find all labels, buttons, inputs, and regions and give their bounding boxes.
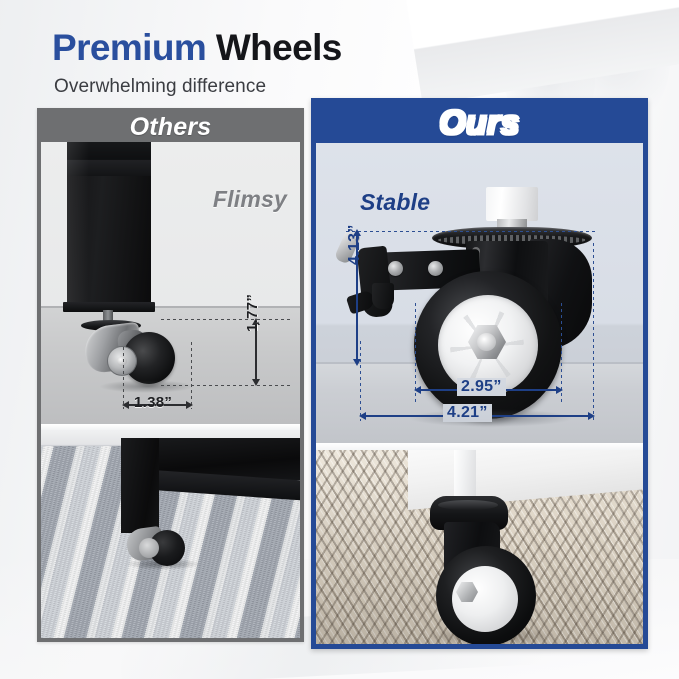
ours-panel-header: Ours — [316, 103, 643, 143]
ours-panel: Ours — [311, 98, 648, 649]
caster-bearing-ring-lower — [438, 500, 498, 510]
dim-width-arrow-right — [186, 401, 193, 409]
others-panel-body: Flimsy 1.77” 1.38” — [41, 142, 300, 638]
ours-top-photo: Stable 4.13” 2.95” 4 — [316, 143, 643, 443]
dim-height-label: 4.13” — [346, 224, 364, 265]
caster-wheel-hub-lower — [139, 538, 159, 558]
dim-width-arrow-left — [122, 401, 129, 409]
ours-photo-divider — [316, 443, 643, 450]
dim-guide-total-right — [593, 243, 594, 421]
dim-wheel-width-arrow-left — [414, 386, 421, 394]
dim-total-width-arrow-left — [359, 412, 366, 420]
page-title-rest: Wheels — [206, 27, 342, 68]
dim-wheel-width-label: 2.95” — [457, 378, 506, 396]
ours-quality-label: Stable — [360, 189, 430, 216]
infographic-canvas: Premium Wheels Overwhelming difference O… — [0, 0, 679, 679]
others-panel-header: Others — [41, 112, 300, 142]
dim-height-arrow-down — [252, 379, 260, 386]
dim-guide-total-left — [360, 341, 361, 421]
brake-hook — [372, 283, 394, 309]
wheel-axle-center — [477, 333, 496, 351]
dim-height-label: 1.77” — [244, 294, 261, 332]
ours-panel-body: Stable 4.13” 2.95” 4 — [316, 143, 643, 644]
caster-mounting-post-lower — [454, 450, 476, 502]
caster-mounting-post — [486, 187, 538, 221]
caster-wheel-bolt — [117, 356, 127, 366]
dim-guide-top — [346, 231, 596, 232]
dim-guide-left — [123, 347, 124, 409]
caster-ground-shadow — [99, 380, 195, 393]
table-leg-highlight — [67, 142, 89, 310]
dim-width-label: 1.38” — [134, 394, 172, 411]
bracket-rivet — [388, 261, 403, 276]
page-title-accent: Premium — [52, 27, 206, 68]
ours-bottom-photo — [316, 450, 643, 644]
dim-wheel-width-arrow-right — [556, 386, 563, 394]
dim-total-width-label: 4.21” — [443, 404, 492, 422]
ours-panel-header-text: Ours — [439, 104, 520, 143]
dim-guide-bottom — [161, 385, 291, 386]
others-bottom-photo — [41, 430, 300, 638]
others-top-photo: Flimsy 1.77” 1.38” — [41, 142, 300, 424]
table-leg-lower — [121, 438, 159, 533]
dim-total-width-arrow-right — [588, 412, 595, 420]
bracket-rivet — [428, 261, 443, 276]
others-quality-label: Flimsy — [213, 186, 287, 213]
page-subtitle: Overwhelming difference — [54, 76, 266, 98]
dim-guide-right — [191, 342, 192, 409]
dim-guide-top — [161, 319, 291, 320]
page-title: Premium Wheels — [52, 29, 342, 66]
others-panel: Others Flimsy — [37, 108, 304, 642]
